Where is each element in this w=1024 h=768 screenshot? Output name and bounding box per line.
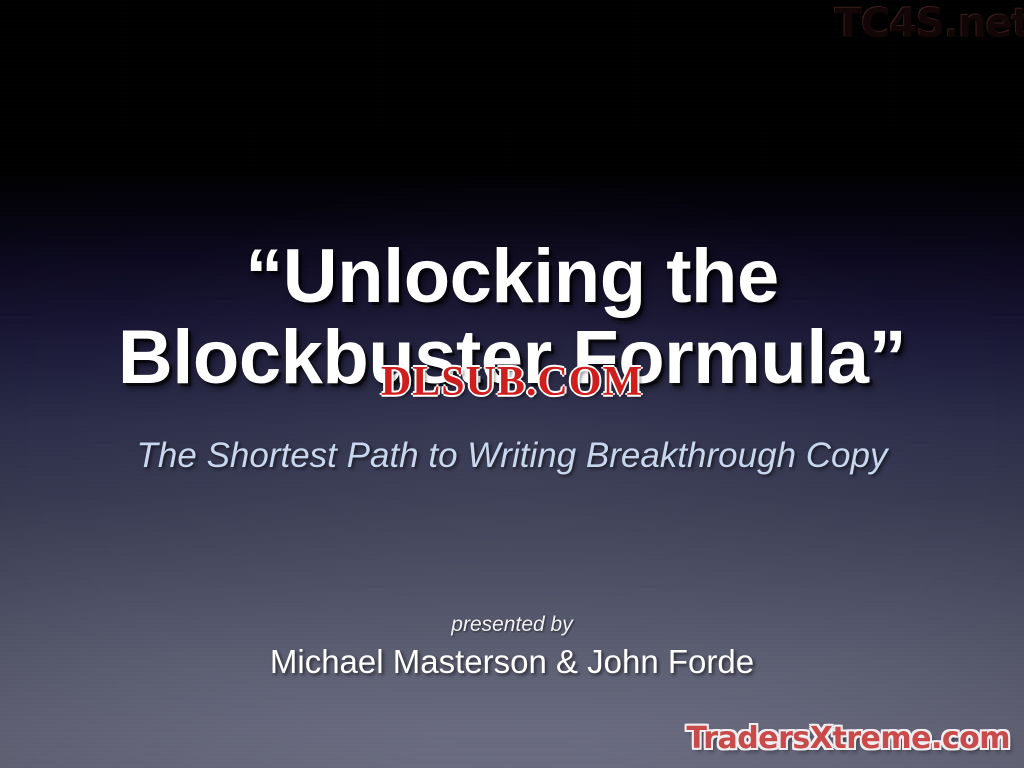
watermark-bottom-right: TradersXtreme.com — [687, 721, 1010, 756]
presented-by-label: presented by — [0, 613, 1024, 637]
presenter-names: Michael Masterson & John Forde — [0, 643, 1024, 681]
title-line-1: “Unlocking the — [0, 236, 1024, 317]
slide-subtitle: The Shortest Path to Writing Breakthroug… — [0, 436, 1024, 476]
title-line-2: Blockbuster Formula” — [0, 317, 1024, 398]
slide-title: “Unlocking the Blockbuster Formula” — [0, 236, 1024, 399]
watermark-top-right: TC4S.net — [835, 1, 1024, 47]
presentation-slide: TC4S.net “Unlocking the Blockbuster Form… — [0, 0, 1024, 768]
